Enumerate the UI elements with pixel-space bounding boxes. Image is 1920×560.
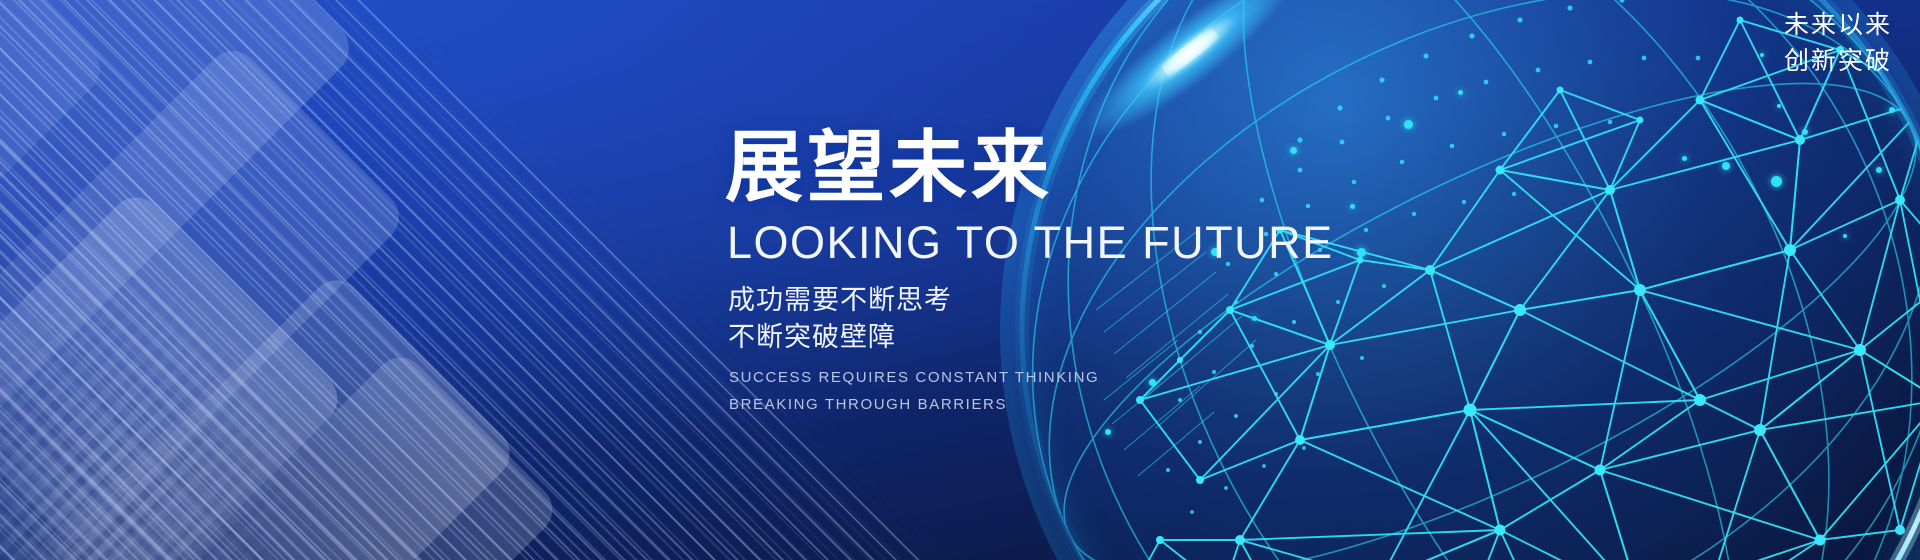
subtitle-english-line-1: SUCCESS REQUIRES CONSTANT THINKING <box>729 365 1485 391</box>
subtitle-english: SUCCESS REQUIRES CONSTANT THINKING BREAK… <box>729 365 1485 418</box>
diagonal-geometric-pattern <box>0 0 620 560</box>
dot-grid-pattern <box>0 157 418 560</box>
subtitle-chinese: 成功需要不断思考 不断突破壁障 <box>728 282 1485 355</box>
globe-light-flare-core <box>1160 26 1220 78</box>
diagonal-shape-3 <box>0 187 348 560</box>
headline-block: 展望未来 LOOKING TO THE FUTURE 成功需要不断思考 不断突破… <box>725 128 1485 418</box>
subtitle-chinese-line-2: 不断突破壁障 <box>728 319 1485 356</box>
diagonal-line-bundle-3 <box>0 0 589 560</box>
particle-dot <box>1105 429 1111 435</box>
particle-dot <box>1802 129 1808 135</box>
particle-dot <box>1889 107 1895 113</box>
particle-dot <box>1760 53 1764 57</box>
particle-dot <box>1843 234 1847 238</box>
diagonal-shape-2 <box>0 40 410 549</box>
page-title-english: LOOKING TO THE FUTURE <box>727 218 1485 268</box>
dot-grid-pattern-secondary <box>0 338 322 560</box>
page-title: 展望未来 <box>725 128 1485 208</box>
particle-dot <box>1458 90 1463 95</box>
diagonal-shape-1 <box>0 0 360 445</box>
corner-slogan: 未来以来 创新突破 <box>1784 8 1892 79</box>
diagonal-shape-4 <box>40 270 521 560</box>
subtitle-english-line-2: BREAKING THROUGH BARRIERS <box>729 392 1485 418</box>
corner-slogan-line-1: 未来以来 <box>1784 8 1892 44</box>
subtitle-chinese-line-1: 成功需要不断思考 <box>728 282 1485 319</box>
particle-dot <box>1777 104 1781 108</box>
promo-banner: 展望未来 LOOKING TO THE FUTURE 成功需要不断思考 不断突破… <box>0 0 1920 560</box>
diagonal-shape-6 <box>167 347 563 560</box>
particle-dot <box>1722 162 1730 170</box>
particle-dot <box>1682 156 1687 161</box>
diagonal-shape-5 <box>0 0 111 366</box>
particle-dot <box>1876 167 1882 173</box>
corner-slogan-line-2: 创新突破 <box>1784 44 1892 80</box>
particle-dot <box>1771 176 1782 187</box>
